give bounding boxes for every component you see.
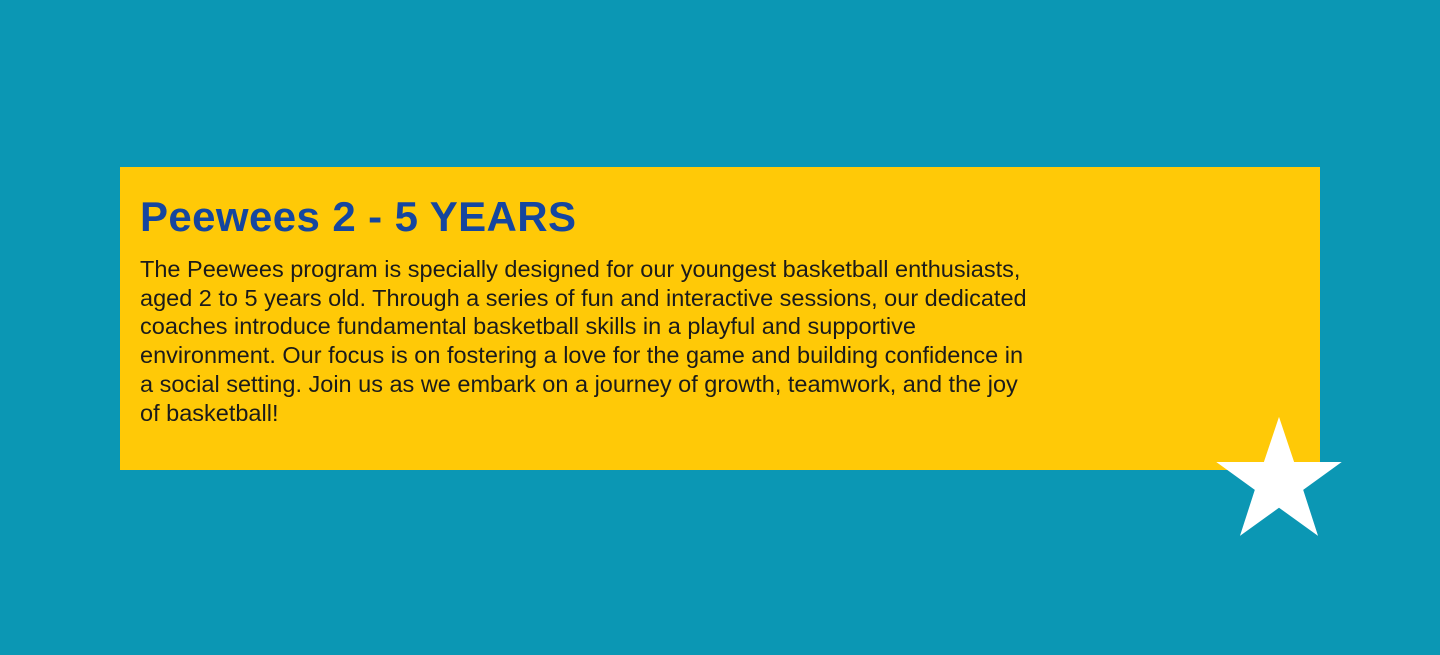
program-card: Peewees 2 - 5 YEARS The Peewees program … xyxy=(120,167,1320,470)
page-canvas: Peewees 2 - 5 YEARS The Peewees program … xyxy=(0,0,1440,655)
program-description: The Peewees program is specially designe… xyxy=(140,255,1030,427)
program-card-content: Peewees 2 - 5 YEARS The Peewees program … xyxy=(140,167,1040,470)
star-icon xyxy=(1215,415,1343,539)
page-title: Peewees 2 - 5 YEARS xyxy=(140,195,576,239)
